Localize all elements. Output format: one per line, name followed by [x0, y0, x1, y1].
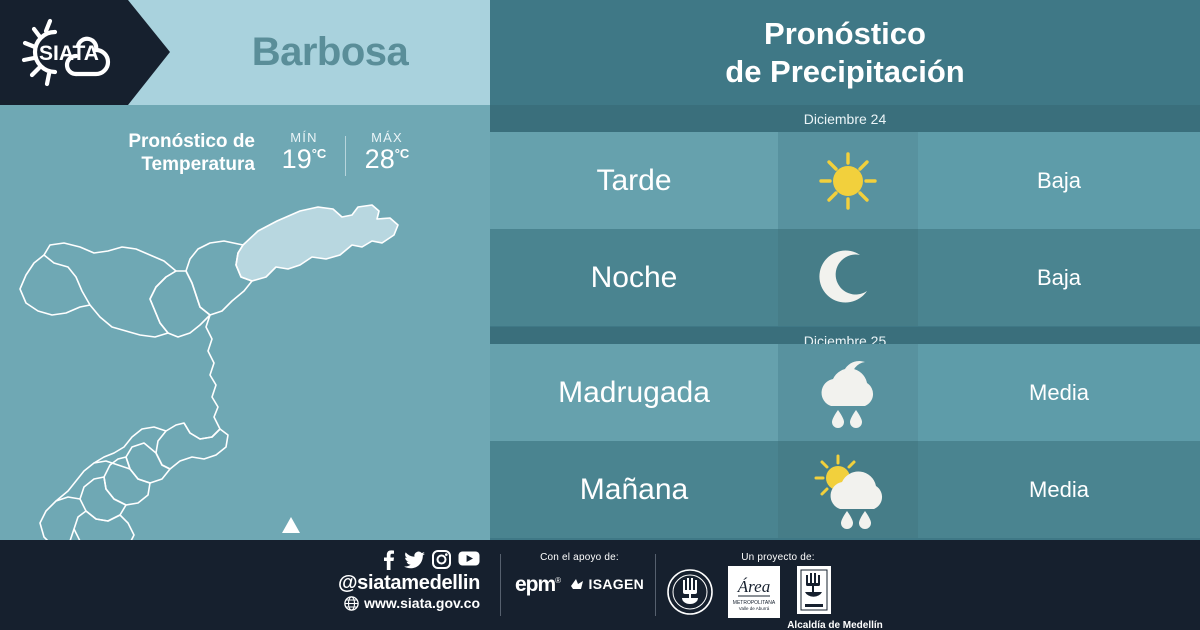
- temperature-title-line2: Temperatura: [90, 153, 255, 176]
- temperature-max-value: 28°C: [365, 146, 410, 173]
- weather-forecast-infographic: SIATA Barbosa Pronóstico de Temperatura …: [0, 0, 1200, 630]
- temperature-summary: Pronóstico de Temperatura MÍN 19°C MÁX 2…: [90, 122, 420, 184]
- temperature-max-label: MÁX: [371, 130, 403, 145]
- alcaldia-medellin-icon: [797, 566, 831, 614]
- map-region-itagui: [126, 443, 170, 483]
- forecast-icon-cell: [778, 132, 918, 229]
- forecast-period-cell: Madrugada: [490, 344, 778, 441]
- support-block: Con el apoyo de: epm® ISAGEN: [512, 552, 647, 597]
- website-text: www.siata.gov.co: [364, 595, 480, 611]
- social-icons: [300, 550, 480, 570]
- forecast-period-label: Tarde: [596, 164, 671, 198]
- forecast-icon-cell: [778, 441, 918, 538]
- forecast-level-label: Baja: [1037, 168, 1081, 194]
- forecast-period-label: Mañana: [580, 473, 688, 507]
- globe-icon: [344, 596, 359, 611]
- area-metropolitana-icon: Área METROPOLITANA Valle de Aburrá: [728, 566, 780, 618]
- siata-logo-text: SIATA: [39, 42, 99, 65]
- temperature-panel: SIATA Barbosa Pronóstico de Temperatura …: [0, 0, 490, 540]
- youtube-icon[interactable]: [458, 550, 480, 567]
- forecast-level-label: Media: [1029, 380, 1089, 406]
- footer: @siatamedellin www.siata.gov.co Con el a…: [0, 540, 1200, 630]
- temperature-title: Pronóstico de Temperatura: [90, 130, 255, 176]
- forecast-period-label: Madrugada: [558, 376, 710, 410]
- instagram-icon[interactable]: [432, 550, 451, 569]
- forecast-row: Mañana Media: [490, 441, 1200, 538]
- isagen-logo: ISAGEN: [570, 576, 644, 594]
- map-region-sabaneta: [104, 457, 150, 505]
- map-region-barbosa: [236, 205, 398, 281]
- forecast-level-cell: Baja: [918, 229, 1200, 326]
- support-logos: epm® ISAGEN: [512, 573, 647, 597]
- map-region-caldas: [74, 511, 134, 540]
- map-region-south-inner: [94, 427, 166, 463]
- svg-text:Área: Área: [737, 577, 770, 596]
- siata-logo-wedge: SIATA: [0, 0, 170, 105]
- temperature-min: MÍN 19°C: [271, 130, 337, 173]
- forecast-level-cell: Media: [918, 344, 1200, 441]
- twitter-icon[interactable]: [404, 550, 425, 570]
- forecast-period-cell: Tarde: [490, 132, 778, 229]
- forecast-period-cell: Mañana: [490, 441, 778, 538]
- social-block: @siatamedellin www.siata.gov.co: [300, 550, 480, 611]
- map-region-west-lower: [40, 497, 80, 540]
- epm-logo: epm®: [515, 573, 560, 597]
- temperature-min-label: MÍN: [290, 130, 317, 145]
- forecast-icon-cell: [778, 229, 918, 326]
- forecast-row: Madrugada Media: [490, 344, 1200, 441]
- forecast-title: Pronóstico de Precipitación: [490, 0, 1200, 105]
- universidad-seal-icon: [666, 568, 714, 616]
- city-header-band: SIATA Barbosa: [0, 0, 490, 105]
- forecast-title-line1: Pronóstico: [764, 15, 926, 53]
- temperature-title-line1: Pronóstico de: [90, 130, 255, 153]
- north-arrow-icon: N: [281, 517, 301, 540]
- alcaldia-medellin-svg: [797, 566, 831, 614]
- map-region-laestrella: [80, 477, 126, 521]
- map-region-bello: [44, 243, 176, 337]
- footer-divider: [655, 554, 656, 616]
- isagen-mark-icon: [570, 577, 584, 591]
- forecast-level-label: Baja: [1037, 265, 1081, 291]
- alcaldia-label: Alcaldía de Medellín: [780, 620, 890, 630]
- footer-divider: [500, 554, 501, 616]
- forecast-level-cell: Baja: [918, 132, 1200, 229]
- area-metropolitana-svg: Área METROPOLITANA Valle de Aburrá: [728, 566, 780, 618]
- forecast-period-cell: Noche: [490, 229, 778, 326]
- social-handle[interactable]: @siatamedellin: [300, 572, 480, 595]
- sun-icon: [805, 138, 891, 224]
- aburra-valley-map: N: [0, 185, 490, 540]
- precipitation-panel: Pronóstico de Precipitación Diciembre 24…: [490, 0, 1200, 540]
- temperature-divider: [345, 136, 346, 176]
- moon-icon: [805, 235, 891, 321]
- temperature-max: MÁX 28°C: [354, 130, 420, 173]
- forecast-period-label: Noche: [591, 261, 678, 295]
- project-caption: Un proyecto de:: [668, 552, 888, 563]
- forecast-icon-cell: [778, 344, 918, 441]
- forecast-level-cell: Media: [918, 441, 1200, 538]
- forecast-level-label: Media: [1029, 477, 1089, 503]
- temperature-values: MÍN 19°C MÁX 28°C: [271, 130, 420, 176]
- forecast-row: Noche Baja: [490, 229, 1200, 326]
- map-region-southwest: [56, 461, 130, 501]
- website-row[interactable]: www.siata.gov.co: [300, 595, 480, 611]
- temperature-min-value: 19°C: [282, 146, 327, 173]
- map-region-copacabana: [150, 271, 210, 337]
- sun-cloud-icon: SIATA: [14, 12, 124, 92]
- svg-text:Valle de Aburrá: Valle de Aburrá: [739, 606, 770, 611]
- moon-rain-icon: [803, 350, 893, 436]
- sun-cloud-rain-icon: [802, 447, 894, 533]
- facebook-icon[interactable]: [380, 550, 397, 570]
- date-band-day1: Diciembre 24: [490, 105, 1200, 132]
- page-title: Barbosa: [170, 0, 490, 105]
- map-region-envigado: [156, 423, 228, 469]
- forecast-row: Tarde Baj: [490, 132, 1200, 229]
- map-svg: N: [0, 185, 490, 540]
- forecast-title-line2: de Precipitación: [725, 53, 964, 91]
- support-caption: Con el apoyo de:: [512, 552, 647, 563]
